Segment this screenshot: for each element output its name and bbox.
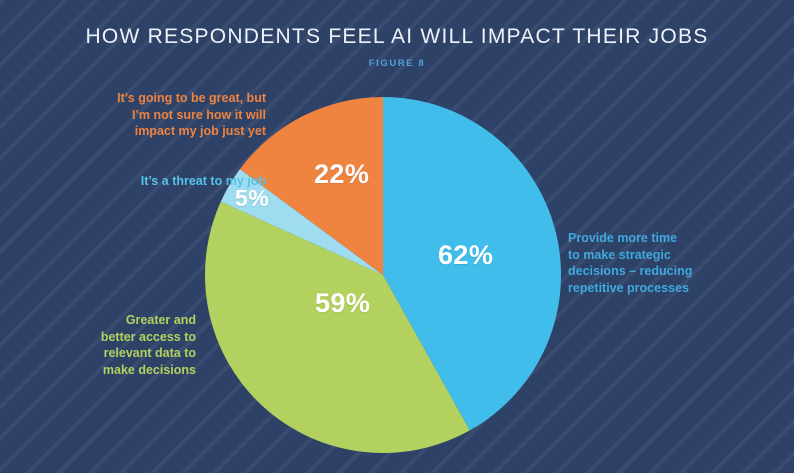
slice-value-green: 59% <box>315 288 370 319</box>
slice-label-orange: It’s going to be great, but I’m not sure… <box>66 90 266 140</box>
chart-canvas: HOW RESPONDENTS FEEL AI WILL IMPACT THEI… <box>0 0 794 473</box>
page-title: HOW RESPONDENTS FEEL AI WILL IMPACT THEI… <box>0 24 794 50</box>
slice-label-green: Greater and better access to relevant da… <box>50 312 196 378</box>
slice-label-blue: Provide more time to make strategic deci… <box>568 230 768 296</box>
slice-value-orange: 22% <box>314 159 369 190</box>
figure-caption: FIGURE 8 <box>0 58 794 69</box>
pie-chart <box>205 97 561 453</box>
chart-header: HOW RESPONDENTS FEEL AI WILL IMPACT THEI… <box>0 24 794 69</box>
pie-chart-svg <box>205 97 561 453</box>
slice-value-blue: 62% <box>438 240 493 271</box>
slice-label-light-blue: It’s a threat to my job <box>40 173 266 190</box>
